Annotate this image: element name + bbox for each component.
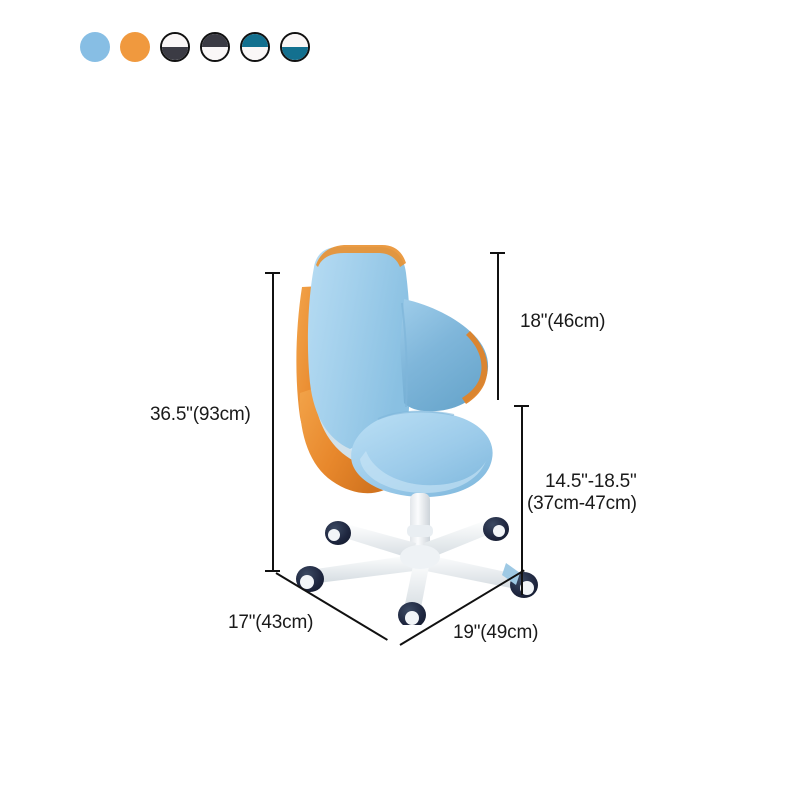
dimension-label-seat-height-line2: (37cm-47cm): [527, 492, 637, 516]
swatch-top-half: [162, 34, 188, 47]
dimension-label-back-height: 18"(46cm): [520, 310, 605, 334]
swatch-bottom-half: [282, 47, 308, 60]
swatch-bottom-half: [202, 47, 228, 60]
dimension-label-depth: 17"(43cm): [228, 611, 313, 635]
swatch-top-half: [80, 32, 110, 47]
dimension-label-seat-height-line1: 14.5"-18.5": [545, 470, 637, 494]
color-swatch-orange[interactable]: [120, 32, 150, 62]
dimension-cap-back-height-top: [490, 252, 505, 254]
color-swatch-light-blue[interactable]: [80, 32, 110, 62]
dimension-label-width: 19"(49cm): [453, 621, 538, 645]
swatch-bottom-half: [162, 47, 188, 60]
caster-back-left: [325, 521, 351, 545]
swatch-top-half: [202, 34, 228, 47]
caster-back-right: [483, 517, 509, 541]
dimension-cap-overall-height-top: [265, 272, 280, 274]
caster-front: [398, 602, 426, 625]
dimension-label-overall-height: 36.5"(93cm): [150, 403, 251, 427]
color-swatch-list: [80, 32, 310, 62]
dimension-line-seat-height: [521, 405, 523, 595]
color-swatch-teal-white[interactable]: [240, 32, 270, 62]
swatch-top-half: [120, 32, 150, 47]
swatch-bottom-half: [80, 47, 110, 62]
swatch-top-half: [242, 34, 268, 47]
dimension-line-overall-height: [272, 272, 274, 572]
product-image-canvas: 36.5"(93cm) 18"(46cm) 14.5"-18.5" (37cm-…: [0, 0, 800, 800]
color-swatch-white-teal[interactable]: [280, 32, 310, 62]
dimension-line-back-height: [497, 252, 499, 400]
color-swatch-dark-gray-white[interactable]: [200, 32, 230, 62]
base-hub: [400, 545, 440, 569]
color-swatch-white-dark-gray[interactable]: [160, 32, 190, 62]
seat-cushion: [351, 411, 492, 497]
dimension-cap-seat-height-top: [514, 405, 529, 407]
gas-lift-collar: [407, 525, 433, 537]
office-chair-image: [270, 225, 550, 625]
swatch-bottom-half: [120, 47, 150, 62]
swatch-top-half: [282, 34, 308, 47]
base-leg-left: [316, 555, 414, 583]
dimension-cap-overall-height-bottom: [265, 570, 280, 572]
swatch-bottom-half: [242, 47, 268, 60]
